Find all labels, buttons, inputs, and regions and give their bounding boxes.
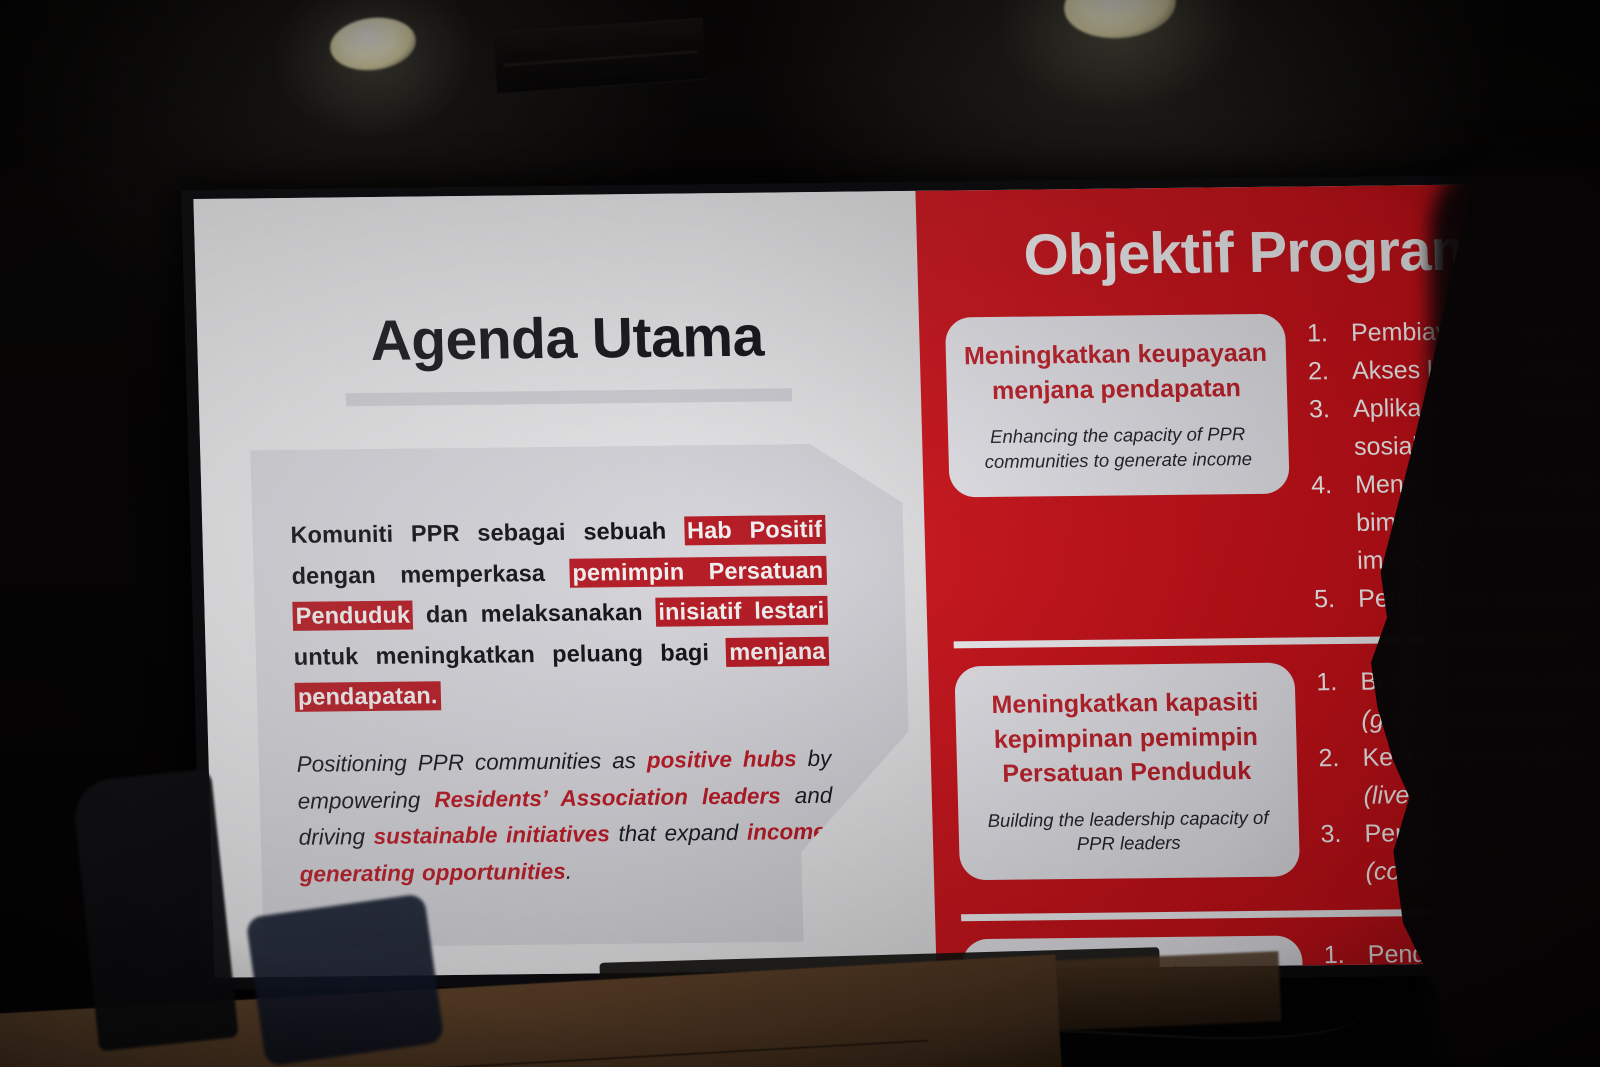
list-item-number: 1. [1316,664,1361,700]
agenda-plain-phrase: dan melaksanakan [413,599,656,628]
list-item-number: 5. [1314,581,1359,617]
list-item-number: 4. [1311,467,1356,503]
agenda-en-plain: . [565,858,572,883]
list-item-number [1313,543,1358,579]
objective-card-malay-title: Meningkatkan keupayaan menjana pendapata… [961,336,1271,408]
chair-seat [245,893,444,1067]
title-underline-rule [345,388,791,406]
agenda-plain-phrase: dengan memperkasa [291,560,569,589]
list-item-number [1317,702,1362,738]
agenda-en-emphasis: Residents’ Association leaders [434,783,781,812]
list-item-number [1321,854,1366,890]
list-item-number: 2. [1318,740,1363,776]
list-item-number [1310,429,1355,465]
agenda-highlight-phrase: inisiatif lestari [655,596,828,627]
chair-backrest [71,768,238,1051]
list-item-number: 2. [1308,353,1353,389]
agenda-en-plain: that expand [609,820,747,847]
list-item-number: 1. [1307,315,1352,351]
objective-card: Meningkatkan kapasiti kepimpinan pemimpi… [954,663,1300,881]
agenda-english-statement: Positioning PPR communities as positive … [296,741,835,893]
agenda-en-emphasis: positive hubs [647,747,797,774]
agenda-title: Agenda Utama [256,306,877,373]
slide-left-panel: Agenda Utama Komuniti PPR sebagai sebuah… [193,191,936,978]
ceiling-light-left-icon [327,13,419,75]
agenda-en-plain: Positioning PPR communities as [296,748,647,777]
agenda-statement-box: Komuniti PPR sebagai sebuah Hab Positif … [250,443,914,948]
objective-card-english-subtitle: Building the leadership capacity of PPR … [974,805,1283,858]
objective-card: Meningkatkan keupayaan menjana pendapata… [944,314,1289,498]
agenda-plain-phrase: untuk meningkatkan peluang bagi [293,639,726,670]
agenda-highlight-phrase: Hab Positif [684,515,826,546]
objective-card-malay-title: Meningkatkan kapasiti kepimpinan pemimpi… [970,685,1281,792]
list-item-number [1312,505,1357,541]
agenda-en-emphasis: sustainable initiatives [373,822,610,850]
list-item-number: 3. [1309,391,1354,427]
list-item-number: 1. [1323,937,1368,970]
photo-scene: Agenda Utama Komuniti PPR sebagai sebuah… [0,0,1600,1067]
list-item-number: 3. [1320,816,1365,852]
agenda-plain-phrase: Komuniti PPR sebagai sebuah [290,518,684,548]
agenda-malay-statement: Komuniti PPR sebagai sebuah Hab Positif … [290,509,830,717]
list-item-number [1319,778,1364,814]
ceiling-light-right-icon [1061,0,1178,43]
objective-card-english-subtitle: Enhancing the capacity of PPR communitie… [963,422,1272,475]
